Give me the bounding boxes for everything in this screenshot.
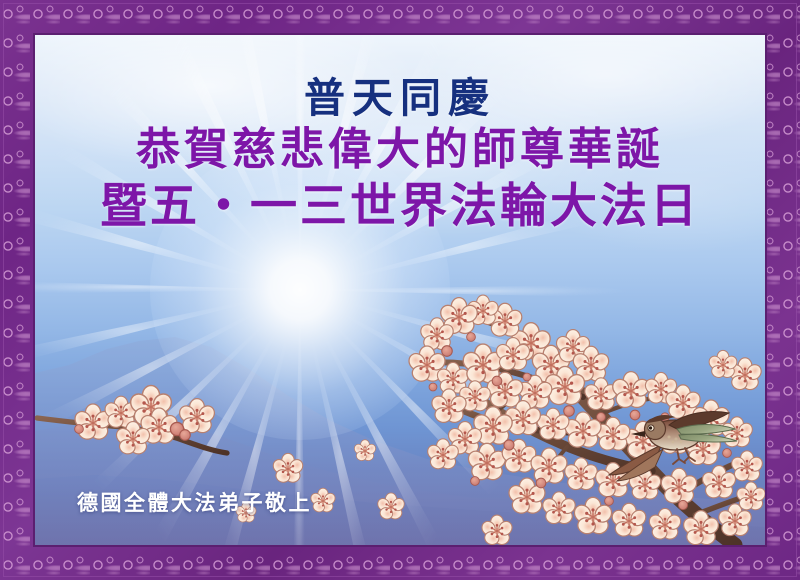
greeting-card: 普天同慶 恭賀慈悲偉大的師尊華誕 暨五‧一三世界法輪大法日 bbox=[0, 0, 800, 580]
headline-line-3: 暨五‧一三世界法輪大法日 bbox=[35, 178, 765, 236]
signature-text: 德國全體大法弟子敬上 bbox=[77, 487, 312, 517]
headline-line-2: 恭賀慈悲偉大的師尊華誕 bbox=[35, 122, 765, 178]
headline-line-1: 普天同慶 bbox=[35, 75, 765, 122]
card-scene: 普天同慶 恭賀慈悲偉大的師尊華誕 暨五‧一三世界法輪大法日 bbox=[35, 35, 765, 545]
headline-block: 普天同慶 恭賀慈悲偉大的師尊華誕 暨五‧一三世界法輪大法日 bbox=[35, 75, 765, 236]
